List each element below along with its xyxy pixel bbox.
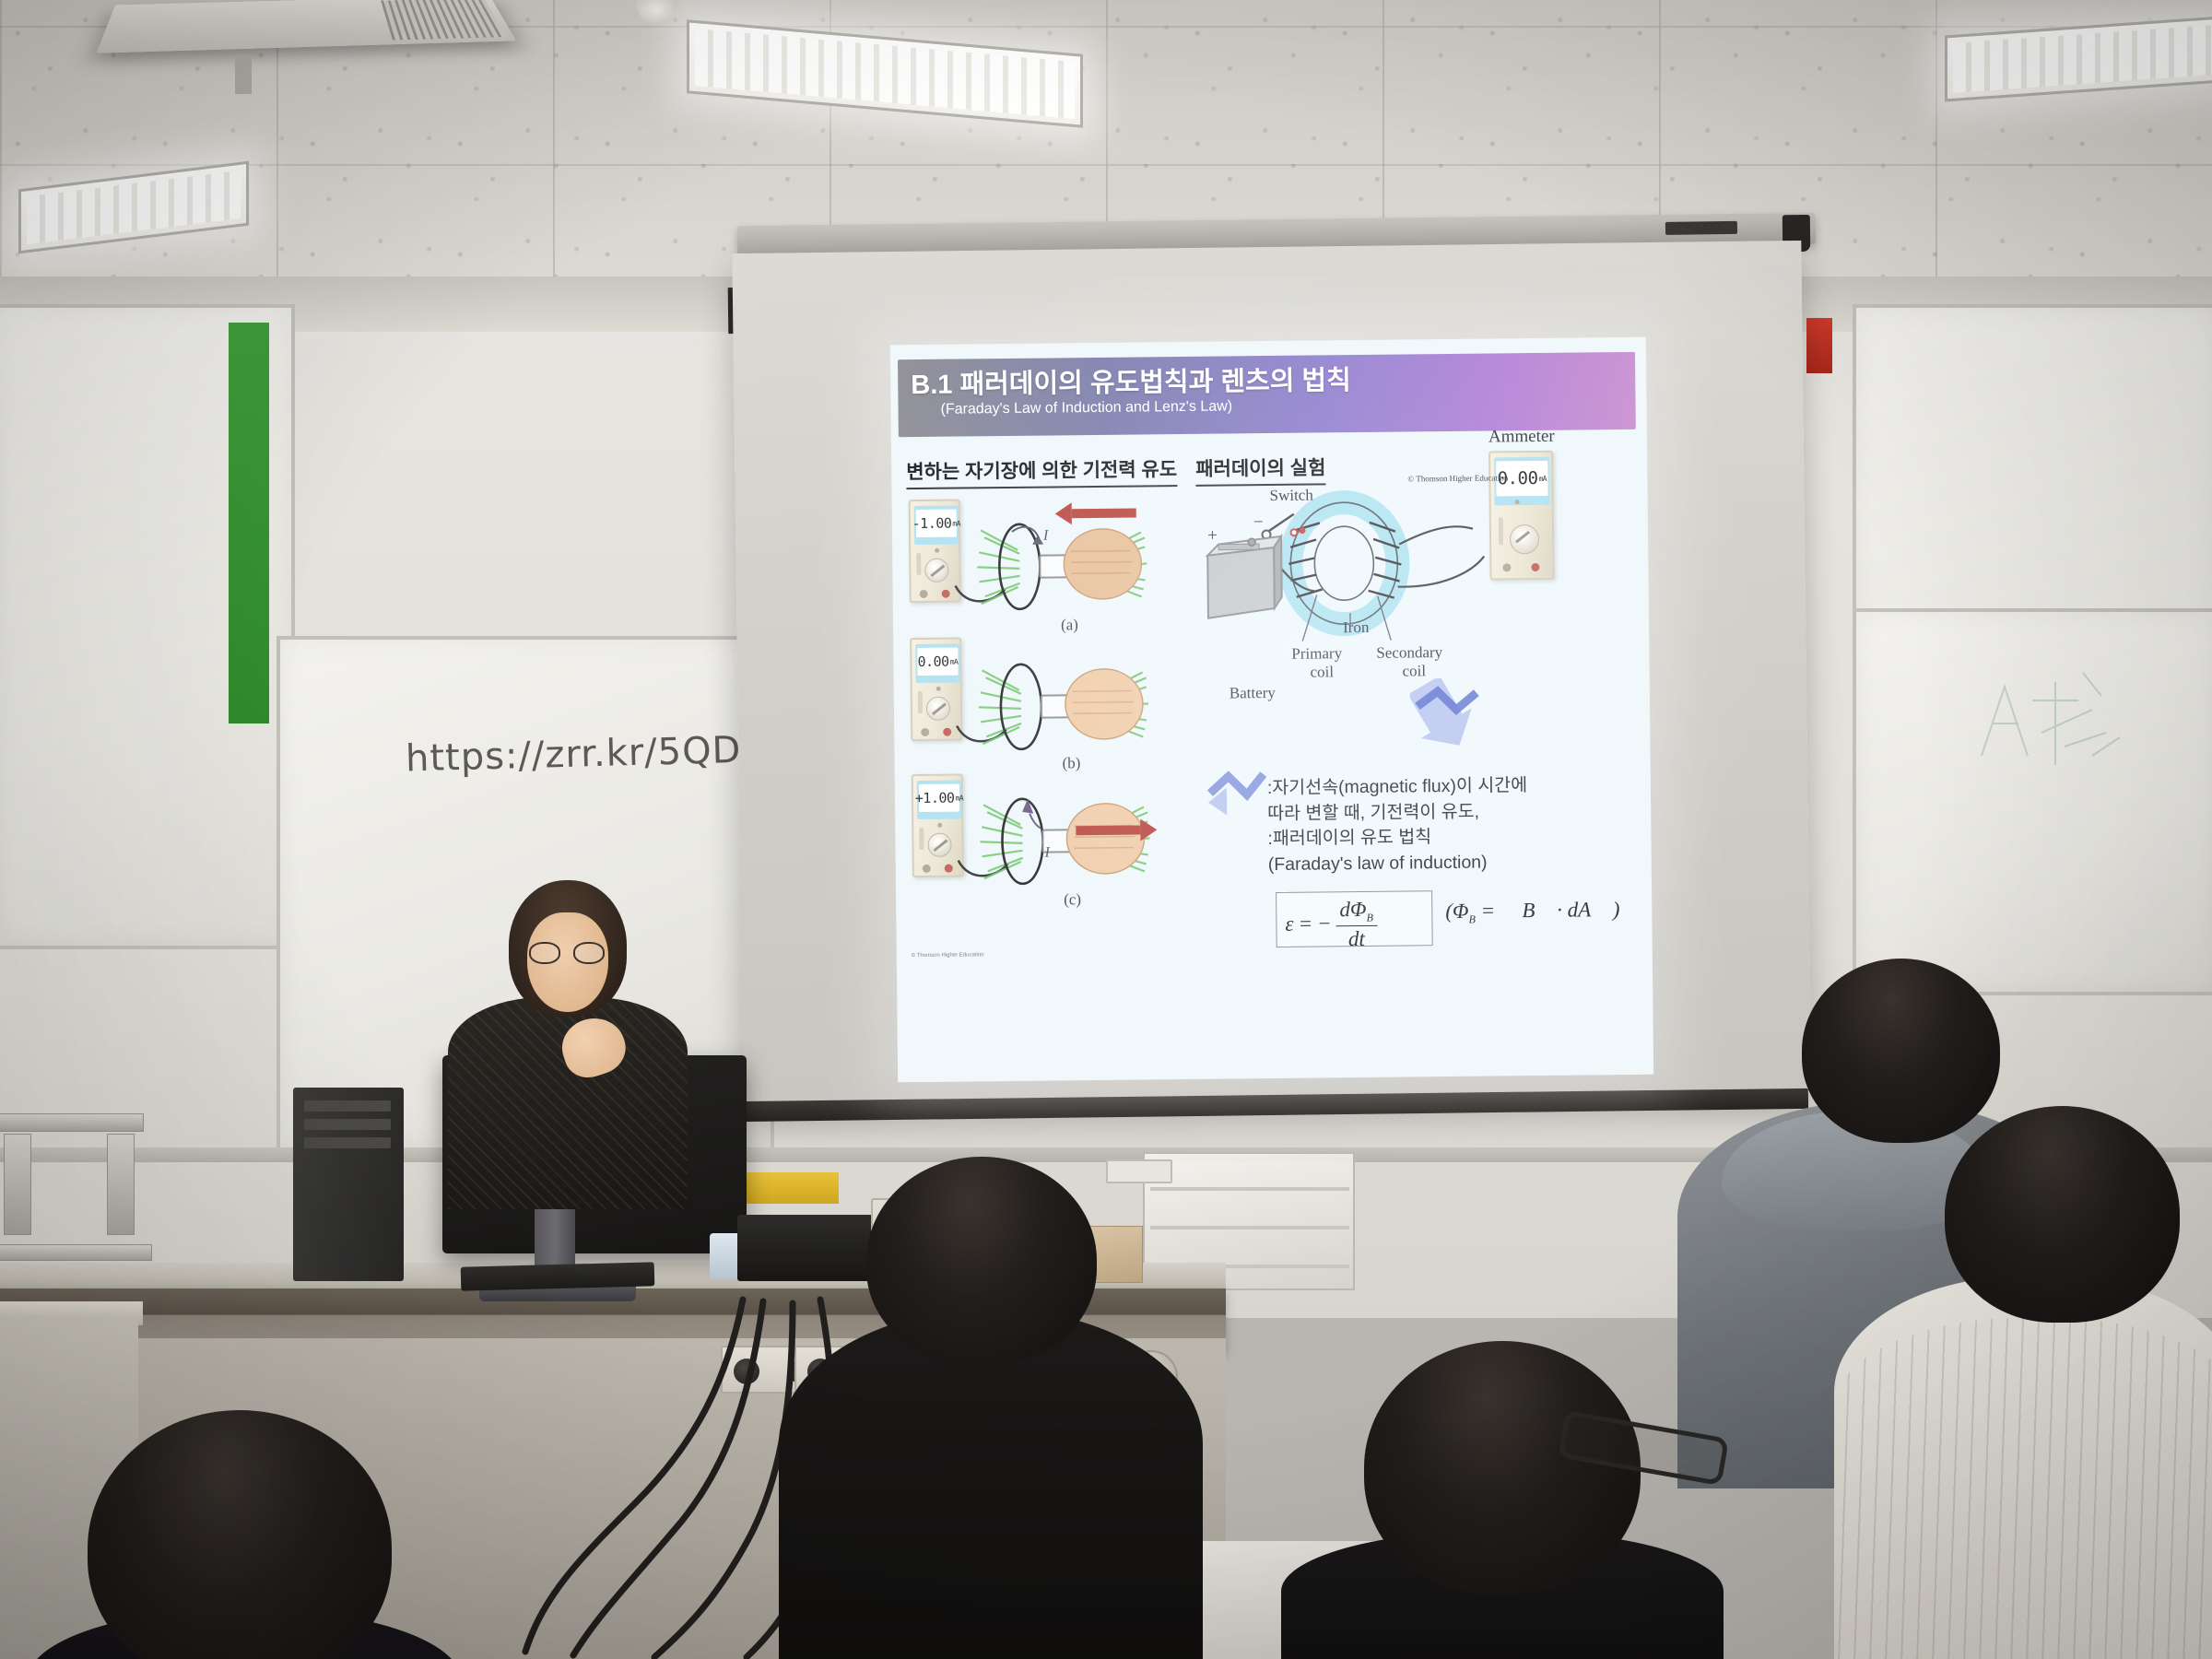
galvanometer-c-dot (937, 823, 942, 828)
galvanometer-b-dial (926, 697, 950, 721)
label-primary-coil-line2: coil (1310, 663, 1334, 681)
galvanometer-c-value: +1.00 (915, 790, 955, 806)
ammeter-unit: mA (1538, 474, 1547, 482)
induction-figure-b (948, 646, 1198, 767)
screen-brand-plate (1665, 221, 1737, 235)
left-lab-apparatus (0, 1106, 157, 1281)
explanation-line-2: 따라 변할 때, 기전력이 유도, (1267, 798, 1636, 828)
panel-caption-c: (c) (1064, 890, 1081, 909)
motion-arrow-a (1072, 509, 1136, 519)
explanation-line-3: :패러데이의 유도 법칙 (1267, 823, 1636, 853)
instructor-glasses (529, 942, 606, 964)
galvanometer-b-value: 0.00 (917, 653, 948, 670)
desktop-pc-tower (293, 1088, 404, 1281)
label-battery-minus: − (1253, 512, 1264, 533)
explanation-line-4: (Faraday's law of induction) (1268, 849, 1637, 878)
bench-yellow-marker (737, 1172, 839, 1204)
galvanometer-a-dot (935, 548, 939, 553)
explanation-line-1: :자기선속(magnetic flux)이 시간에 (1267, 772, 1636, 802)
pc-drive-bay-3 (304, 1137, 391, 1148)
formula-denominator: dt (1345, 926, 1369, 949)
student-5-shirt-stripes (1834, 1318, 2212, 1659)
formula-numerator-sub: B (1366, 911, 1372, 924)
whiteboard-faint-drawing (1954, 645, 2138, 783)
galvanometer-a-slot (916, 553, 921, 575)
label-primary-coil-line1: Primary (1291, 644, 1342, 664)
slide-subtitle: (Faraday's Law of Induction and Lenz's L… (940, 398, 1232, 418)
galvanometer-c-slot (919, 828, 924, 850)
induction-figure-c (950, 781, 1200, 901)
galvanometer-a-value: -1.00 (912, 515, 952, 532)
panel-caption-a: (a) (1061, 616, 1078, 634)
slide-credit-left: © Thomson Higher Education (912, 952, 984, 959)
wall-red-marker-holder (1806, 318, 1832, 373)
faraday-formula: ε = − dΦB dt (1285, 899, 1377, 950)
glasses-lens-left (529, 942, 560, 964)
apparatus-post-2 (107, 1134, 135, 1235)
apparatus-base (0, 1244, 152, 1261)
slide-credit-right: © Thomson Higher Education (1407, 473, 1508, 483)
label-iron: Iron (1343, 618, 1370, 637)
flux-rest: = ∮ B⃗ · dA⃗ ) (1476, 898, 1620, 923)
formula-equals: = (1298, 912, 1312, 936)
label-battery: Battery (1230, 684, 1276, 703)
ammeter-label: Ammeter (1488, 427, 1555, 448)
galvanometer-a-dial (924, 559, 948, 582)
current-label-c: I (1045, 845, 1051, 862)
slide-explanation: :자기선속(magnetic flux)이 시간에 따라 변할 때, 기전력이 … (1267, 772, 1637, 878)
classroom-photo-scene: https://zrr.kr/5QDoFc B.1 패러데이의 유도법칙과 렌츠… (0, 0, 2212, 1659)
blue-arrow-lower (1204, 750, 1269, 825)
slide-title: B.1 패러데이의 유도법칙과 렌츠의 법칙 (911, 359, 1351, 402)
label-switch: Switch (1269, 487, 1312, 505)
formula-numerator: dΦB (1335, 899, 1377, 926)
projector-mount (235, 57, 252, 94)
current-label-a: I (1043, 528, 1049, 545)
student-5-head (1945, 1106, 2180, 1323)
blue-arrow-upper (1410, 678, 1485, 759)
pc-drive-bay-1 (304, 1100, 391, 1112)
label-battery-plus: + (1207, 526, 1218, 547)
galvanometer-a-port-black (920, 590, 928, 598)
projected-slide: B.1 패러데이의 유도법칙과 렌츠의 법칙 (Faraday's Law of… (890, 337, 1653, 1083)
student-3-head (1364, 1341, 1641, 1594)
galvanometer-c-port-black (923, 865, 931, 873)
galvanometer-b-dot (936, 687, 941, 691)
slide-section-heading-left: 변하는 자기장에 의한 기전력 유도 (906, 454, 1177, 489)
panel-caption-b: (b) (1062, 754, 1080, 772)
keyboard[interactable] (461, 1262, 655, 1290)
wall-socket-right[interactable] (1106, 1159, 1172, 1183)
motion-arrow-c (1076, 826, 1140, 836)
ammeter-port-red (1531, 563, 1539, 571)
apparatus-post-1 (4, 1134, 31, 1235)
galvanometer-b-slot (918, 691, 923, 713)
wall-green-strip (229, 323, 269, 724)
projector-vent (381, 0, 506, 41)
formula-emf-symbol: ε (1285, 912, 1293, 936)
instructor-body (448, 997, 688, 1209)
flux-sub: B (1468, 912, 1475, 925)
glasses-lens-right (573, 942, 605, 964)
galvanometer-b-port-black (921, 728, 929, 736)
galvanometer-c-dial (927, 833, 951, 857)
student-4-head (1802, 959, 2000, 1143)
flux-definition: (ΦB = ∮ B⃗ · dA⃗ ) (1445, 898, 1620, 927)
apparatus-rail-top (0, 1113, 144, 1132)
label-secondary-coil-line1: Secondary (1376, 643, 1442, 663)
pc-drive-bay-2 (304, 1119, 391, 1130)
formula-minus: − (1317, 912, 1332, 936)
student-2-head (866, 1157, 1097, 1364)
black-amplifier-box (737, 1215, 876, 1281)
shelf-level-1 (1150, 1187, 1349, 1191)
induction-figure-a (947, 506, 1197, 627)
shelf-level-2 (1150, 1226, 1349, 1230)
flux-open: (Φ (1445, 900, 1468, 923)
slide-title-bar: B.1 패러데이의 유도법칙과 렌츠의 법칙 (Faraday's Law of… (898, 352, 1636, 437)
